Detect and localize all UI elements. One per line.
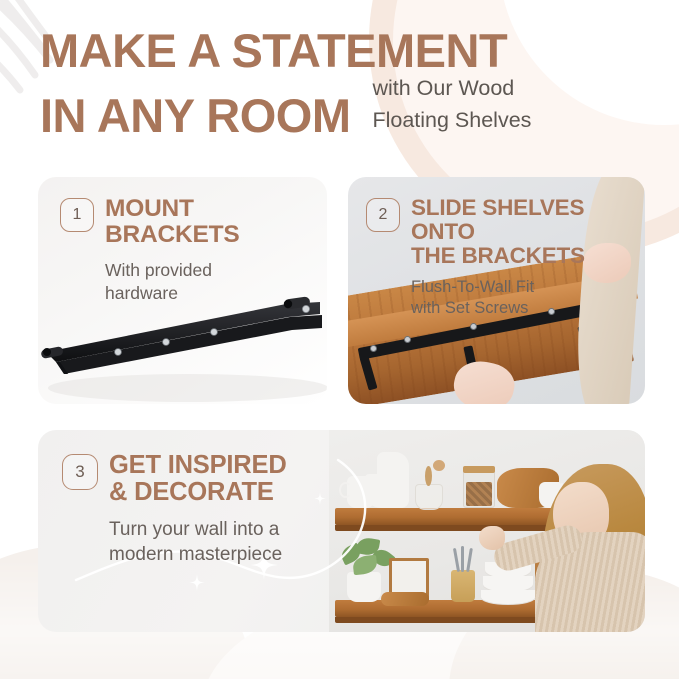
jar-lid xyxy=(463,466,495,473)
step-number-badge-1: 1 xyxy=(60,198,94,232)
step-card-2: 2 SLIDE SHELVES ONTO THE BRACKETS Flush-… xyxy=(348,177,645,404)
sparkle-icon-tiny xyxy=(314,492,326,505)
utensil-holder xyxy=(451,570,475,602)
jar-contents xyxy=(466,482,492,506)
step-card-3: 3 GET INSPIRED & DECORATE Turn your wall… xyxy=(38,430,645,632)
subheadline-line-1: with Our Wood xyxy=(372,74,531,106)
headline-line-1: MAKE A STATEMENT xyxy=(40,28,659,74)
bowl-bottom xyxy=(481,590,535,604)
step-1-header: 1 MOUNT BRACKETS With provided hardware xyxy=(60,196,240,304)
step-2-header: 2 SLIDE SHELVES ONTO THE BRACKETS Flush-… xyxy=(366,196,645,319)
page-header: MAKE A STATEMENT IN ANY ROOM with Our Wo… xyxy=(40,28,659,139)
step-card-1: 1 MOUNT BRACKETS With provided hardware xyxy=(38,177,327,404)
bracket-screw-1 xyxy=(370,345,377,352)
subheadline: with Our Wood Floating Shelves xyxy=(372,74,531,139)
step-1-text: MOUNT BRACKETS With provided hardware xyxy=(105,196,240,304)
subheadline-line-2: Floating Shelves xyxy=(372,106,531,138)
step-3-description: Turn your wall into a modern masterpiece xyxy=(109,518,287,567)
step-1-description: With provided hardware xyxy=(105,259,240,305)
wood-shelf-top xyxy=(335,508,581,525)
mug-bowl xyxy=(365,474,399,508)
step-1-title: MOUNT BRACKETS xyxy=(105,196,240,248)
step-3-text: GET INSPIRED & DECORATE Turn your wall i… xyxy=(109,452,287,567)
utensil-fork xyxy=(453,548,460,572)
utensil-knife xyxy=(466,548,472,572)
step-number-badge-2: 2 xyxy=(366,198,400,232)
step-2-title: SLIDE SHELVES ONTO THE BRACKETS xyxy=(411,196,645,268)
step-2-text: SLIDE SHELVES ONTO THE BRACKETS Flush-To… xyxy=(411,196,645,319)
glass-vase xyxy=(415,484,443,510)
sparkle-icon-small xyxy=(189,574,205,591)
step-2-description: Flush-To-Wall Fit with Set Screws xyxy=(411,277,645,320)
step-number-badge-3: 3 xyxy=(62,454,98,490)
step-3-header: 3 GET INSPIRED & DECORATE Turn your wall… xyxy=(62,452,287,567)
utensil-spoon xyxy=(461,546,464,572)
step-3-photo xyxy=(329,430,645,632)
small-serving-board xyxy=(381,592,429,606)
headline-line-2: IN ANY ROOM xyxy=(40,93,350,139)
woman-hand xyxy=(479,526,505,550)
mug-handle-icon xyxy=(339,482,352,498)
step-3-title: GET INSPIRED & DECORATE xyxy=(109,452,287,506)
dried-flower-bud xyxy=(433,460,445,471)
bracket-screw-2 xyxy=(404,336,411,343)
bracket-screw-3 xyxy=(470,323,477,330)
dried-flower-stem xyxy=(425,466,432,486)
plant-pot xyxy=(347,572,381,602)
